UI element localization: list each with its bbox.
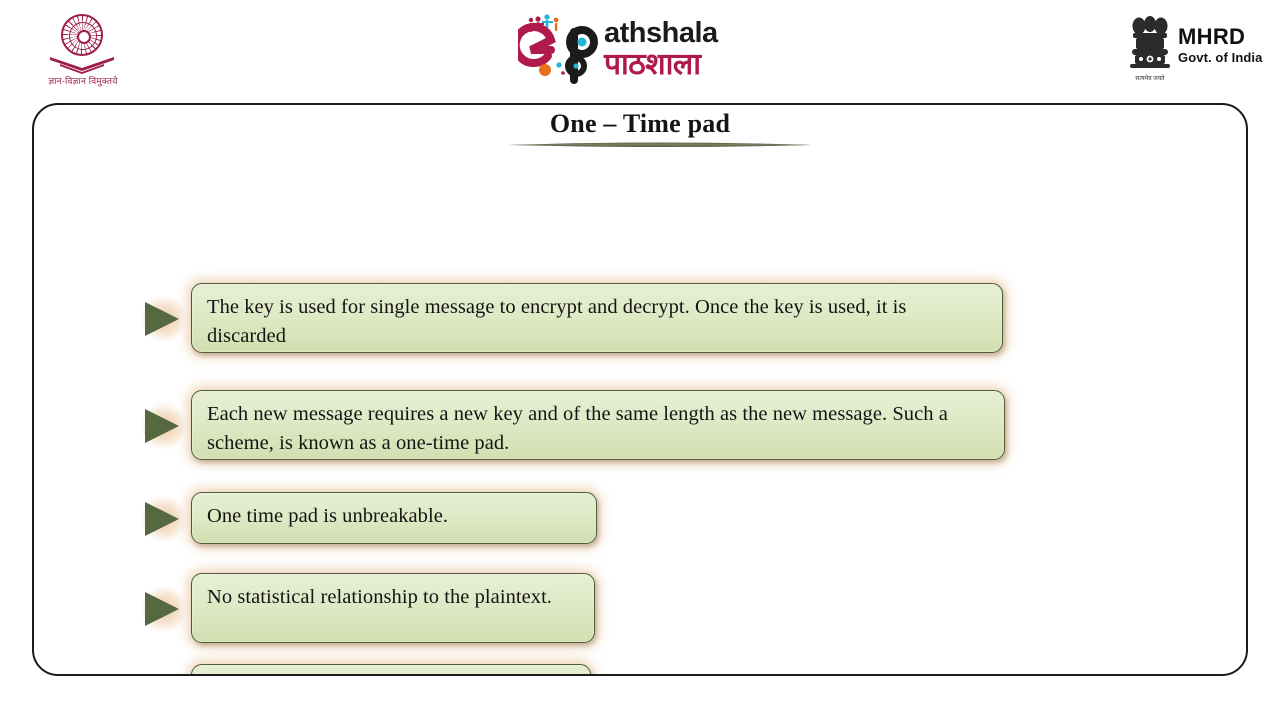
epathshala-word-hi: पाठशाला bbox=[604, 49, 774, 81]
epathshala-wordmark: athshala पाठशाला bbox=[604, 18, 774, 81]
callout-text: No statistical relationship to the plain… bbox=[207, 583, 580, 612]
header-bar: ज्ञान-विज्ञान विमुक्तये bbox=[0, 0, 1280, 96]
triangle-bullet-icon bbox=[137, 292, 191, 344]
list-item: Each new message requires a new key and … bbox=[137, 390, 1005, 460]
mhrd-title: MHRD bbox=[1178, 26, 1262, 48]
ashoka-chakra-icon bbox=[61, 14, 103, 56]
triangle-bullet-icon bbox=[137, 582, 191, 634]
list-item: No statistical relationship to the plain… bbox=[137, 573, 595, 643]
ugc-chevron-icon bbox=[48, 56, 116, 74]
callout-box: One time pad is unbreakable. bbox=[191, 492, 597, 544]
bullet-list: The key is used for single message to en… bbox=[34, 105, 1248, 676]
epathshala-word-en: athshala bbox=[604, 18, 774, 48]
triangle-bullet-icon bbox=[137, 673, 191, 676]
ugc-motto: ज्ञान-विज्ञान विमुक्तये bbox=[38, 74, 128, 87]
callout-text: The key is used for single message to en… bbox=[207, 293, 988, 351]
slide-canvas: ज्ञान-विज्ञान विमुक्तये bbox=[0, 0, 1280, 720]
mhrd-text-block: MHRD Govt. of India bbox=[1178, 26, 1262, 66]
lion-capital-icon bbox=[1126, 12, 1174, 78]
callout-text: One time pad is unbreakable. bbox=[207, 502, 582, 531]
callout-box: The key is used for single message to en… bbox=[191, 283, 1003, 353]
triangle-glyph bbox=[145, 502, 179, 536]
epathshala-mark-icon bbox=[518, 14, 610, 84]
callout-box: Each new message requires a new key and … bbox=[191, 390, 1005, 460]
triangle-bullet-icon bbox=[137, 492, 191, 544]
triangle-glyph bbox=[145, 302, 179, 336]
list-item: The key is used for single message to en… bbox=[137, 283, 1003, 353]
mhrd-motto: सत्यमेव जयते bbox=[1126, 74, 1174, 82]
callout-text: Each new message requires a new key and … bbox=[207, 400, 990, 458]
triangle-glyph bbox=[145, 592, 179, 626]
callout-text: Includes space so 27 characters bbox=[207, 674, 576, 676]
ugc-logo: ज्ञान-विज्ञान विमुक्तये bbox=[38, 12, 128, 88]
triangle-bullet-icon bbox=[137, 399, 191, 451]
triangle-glyph bbox=[145, 409, 179, 443]
callout-box: Includes space so 27 characters bbox=[191, 664, 591, 676]
callout-box: No statistical relationship to the plain… bbox=[191, 573, 595, 643]
slide-frame: One – Time pad The key is used for singl… bbox=[32, 103, 1248, 676]
list-item: Includes space so 27 characters bbox=[137, 664, 591, 676]
epathshala-logo: athshala पाठशाला bbox=[518, 10, 766, 88]
mhrd-subtitle: Govt. of India bbox=[1178, 50, 1262, 66]
mhrd-logo: सत्यमेव जयते MHRD Govt. of India bbox=[1126, 12, 1266, 88]
list-item: One time pad is unbreakable. bbox=[137, 492, 597, 544]
